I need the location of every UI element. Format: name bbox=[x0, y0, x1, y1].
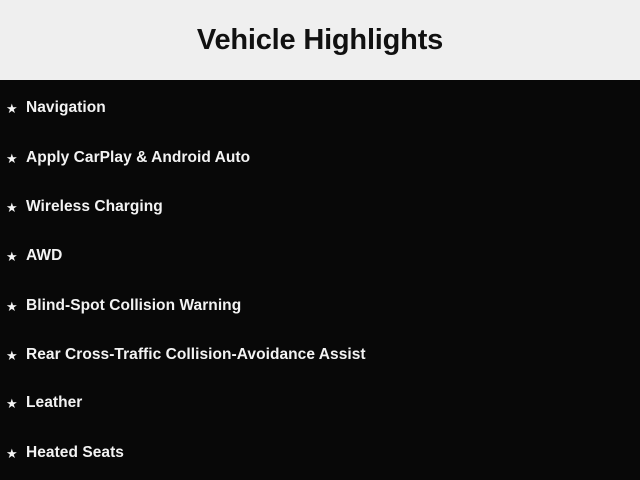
highlight-label: Wireless Charging bbox=[26, 199, 163, 215]
star-icon: ★ bbox=[6, 250, 26, 263]
vehicle-highlights-panel: Vehicle Highlights ★ Navigation ★ Apply … bbox=[0, 0, 640, 480]
list-item: ★ Navigation bbox=[0, 93, 640, 123]
highlight-label: Blind-Spot Collision Warning bbox=[26, 298, 241, 314]
page-title: Vehicle Highlights bbox=[197, 26, 443, 55]
star-icon: ★ bbox=[6, 349, 26, 362]
star-icon: ★ bbox=[6, 102, 26, 115]
star-icon: ★ bbox=[6, 447, 26, 460]
list-item: ★ Leather bbox=[0, 388, 640, 418]
highlight-label: Apply CarPlay & Android Auto bbox=[26, 150, 250, 166]
highlight-label: Leather bbox=[26, 395, 82, 411]
highlight-label: Rear Cross-Traffic Collision-Avoidance A… bbox=[26, 347, 366, 363]
vehicle-highlights-list: ★ Navigation ★ Apply CarPlay & Android A… bbox=[0, 80, 640, 480]
list-item: ★ Wireless Charging bbox=[0, 192, 640, 222]
star-icon: ★ bbox=[6, 397, 26, 410]
star-icon: ★ bbox=[6, 152, 26, 165]
list-item: ★ AWD bbox=[0, 241, 640, 271]
list-item: ★ Heated Seats bbox=[0, 438, 640, 468]
list-item: ★ Rear Cross-Traffic Collision-Avoidance… bbox=[0, 340, 640, 370]
panel-header: Vehicle Highlights bbox=[0, 0, 640, 80]
list-item: ★ Apply CarPlay & Android Auto bbox=[0, 143, 640, 173]
list-item: ★ Blind-Spot Collision Warning bbox=[0, 291, 640, 321]
highlight-label: Heated Seats bbox=[26, 445, 124, 461]
highlight-label: AWD bbox=[26, 248, 62, 264]
star-icon: ★ bbox=[6, 300, 26, 313]
star-icon: ★ bbox=[6, 201, 26, 214]
highlight-label: Navigation bbox=[26, 100, 106, 116]
